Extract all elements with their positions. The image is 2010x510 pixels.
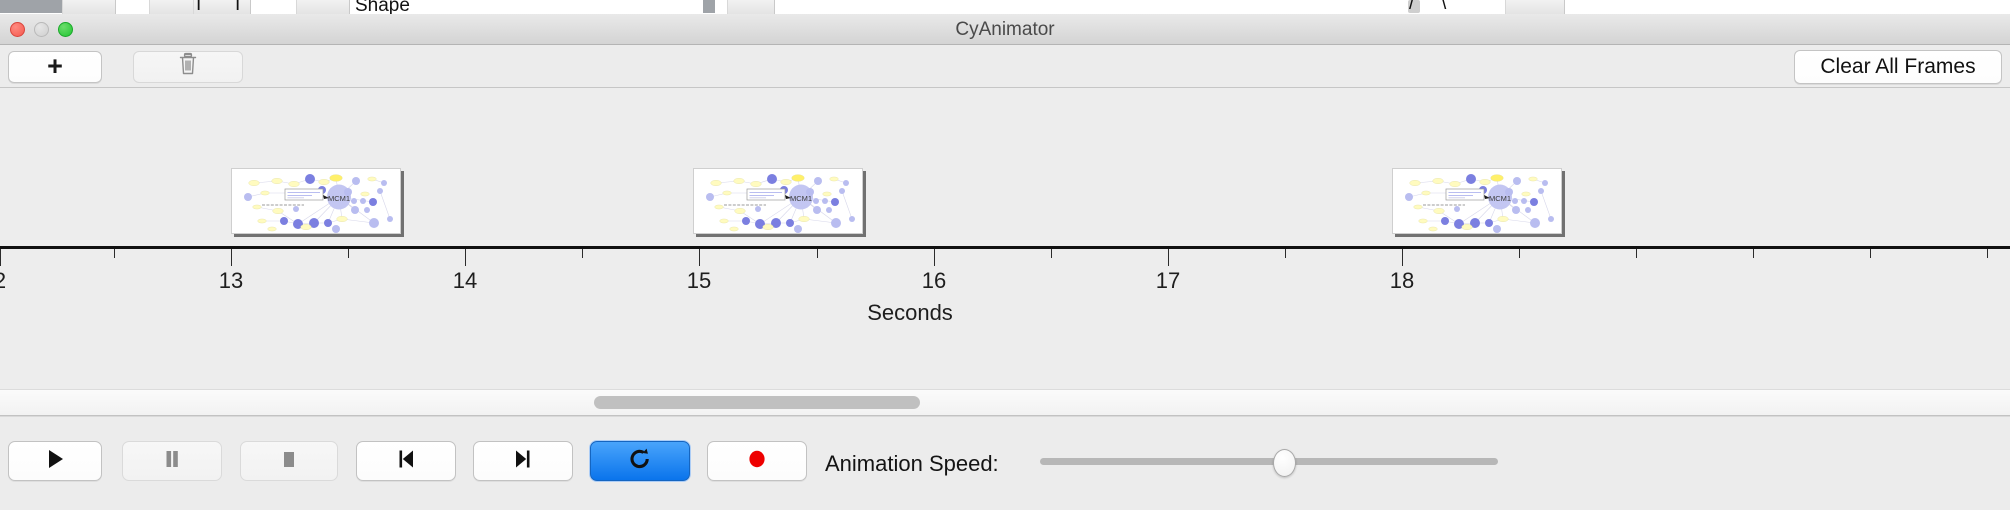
loop-button[interactable] (590, 441, 690, 481)
skip-back-icon (393, 446, 419, 477)
stop-button[interactable] (240, 441, 338, 481)
axis-tick-minor (1285, 249, 1286, 258)
record-button[interactable] (707, 441, 807, 481)
cyanimator-window: I I Shape / \ CyAnimator + (0, 0, 2010, 510)
skip-start-button[interactable] (356, 441, 456, 481)
background-window-strip: I I Shape / \ (0, 0, 2010, 14)
window-title: CyAnimator (0, 19, 2010, 41)
timeline-scrollbar-thumb[interactable] (594, 396, 920, 409)
trash-icon (178, 52, 198, 82)
svg-text:MCM1: MCM1 (790, 194, 812, 203)
axis-tick-major (1168, 249, 1169, 266)
pause-button[interactable] (122, 441, 222, 481)
axis-tick-label: 14 (453, 268, 477, 294)
animation-speed-slider-thumb[interactable] (1273, 449, 1296, 477)
axis-tick-major (465, 249, 466, 266)
skip-end-button[interactable] (473, 441, 573, 481)
axis-tick-minor (1519, 249, 1520, 258)
axis-tick-label: 16 (922, 268, 946, 294)
axis-tick-minor (1870, 249, 1871, 258)
animation-speed-label: Animation Speed: (825, 451, 999, 477)
clear-all-frames-button[interactable]: Clear All Frames (1794, 50, 2002, 84)
axis-title-wrap: Seconds (0, 300, 2010, 326)
plus-icon: + (47, 53, 63, 80)
pause-icon (159, 446, 185, 477)
axis-tick-label: 18 (1390, 268, 1414, 294)
axis-tick-minor (817, 249, 818, 258)
titlebar: CyAnimator (0, 14, 2010, 45)
frame-toolbar: + Clear All Frames (0, 45, 2010, 88)
skip-forward-icon (510, 446, 536, 477)
svg-text:MCM1: MCM1 (1489, 194, 1511, 203)
axis-tick-minor (582, 249, 583, 258)
timeline-scrollbar[interactable] (0, 389, 2010, 415)
axis-tick-label: 15 (687, 268, 711, 294)
axis-title: Seconds (867, 300, 953, 325)
add-frame-button[interactable]: + (8, 51, 102, 83)
timeline-panel[interactable]: MCM1MCM1MCM1 2131415161718 Seconds (0, 88, 2010, 416)
animation-speed-slider[interactable] (1040, 458, 1498, 465)
loop-icon (627, 446, 653, 477)
frames-track[interactable]: MCM1MCM1MCM1 (0, 88, 2010, 246)
record-icon (744, 446, 770, 477)
axis-tick-major (1402, 249, 1403, 266)
axis-tick-minor (1636, 249, 1637, 258)
axis-tick-major (231, 249, 232, 266)
axis-tick-label: 13 (219, 268, 243, 294)
time-axis: 2131415161718 Seconds (0, 246, 2010, 342)
axis-tick-minor (1051, 249, 1052, 258)
axis-tick-label: 2 (0, 268, 6, 294)
axis-line (0, 246, 2010, 249)
axis-tick-major (0, 249, 1, 266)
axis-tick-minor (1753, 249, 1754, 258)
axis-tick-minor (348, 249, 349, 258)
playback-controls-bar: Animation Speed: (0, 416, 2010, 510)
timeline-frame[interactable]: MCM1 (231, 168, 401, 234)
axis-tick-major (934, 249, 935, 266)
axis-tick-major (699, 249, 700, 266)
svg-text:MCM1: MCM1 (328, 194, 350, 203)
axis-tick-minor (114, 249, 115, 258)
play-button[interactable] (8, 441, 102, 481)
background-window-label: Shape (355, 0, 410, 14)
axis-tick-minor (1987, 249, 1988, 258)
axis-tick-label: 17 (1156, 268, 1180, 294)
stop-icon (276, 446, 302, 477)
timeline-frame[interactable]: MCM1 (1392, 168, 1562, 234)
play-icon (42, 446, 68, 477)
clear-all-frames-label: Clear All Frames (1820, 55, 1975, 79)
delete-frame-button[interactable] (133, 51, 243, 83)
timeline-frame[interactable]: MCM1 (693, 168, 863, 234)
